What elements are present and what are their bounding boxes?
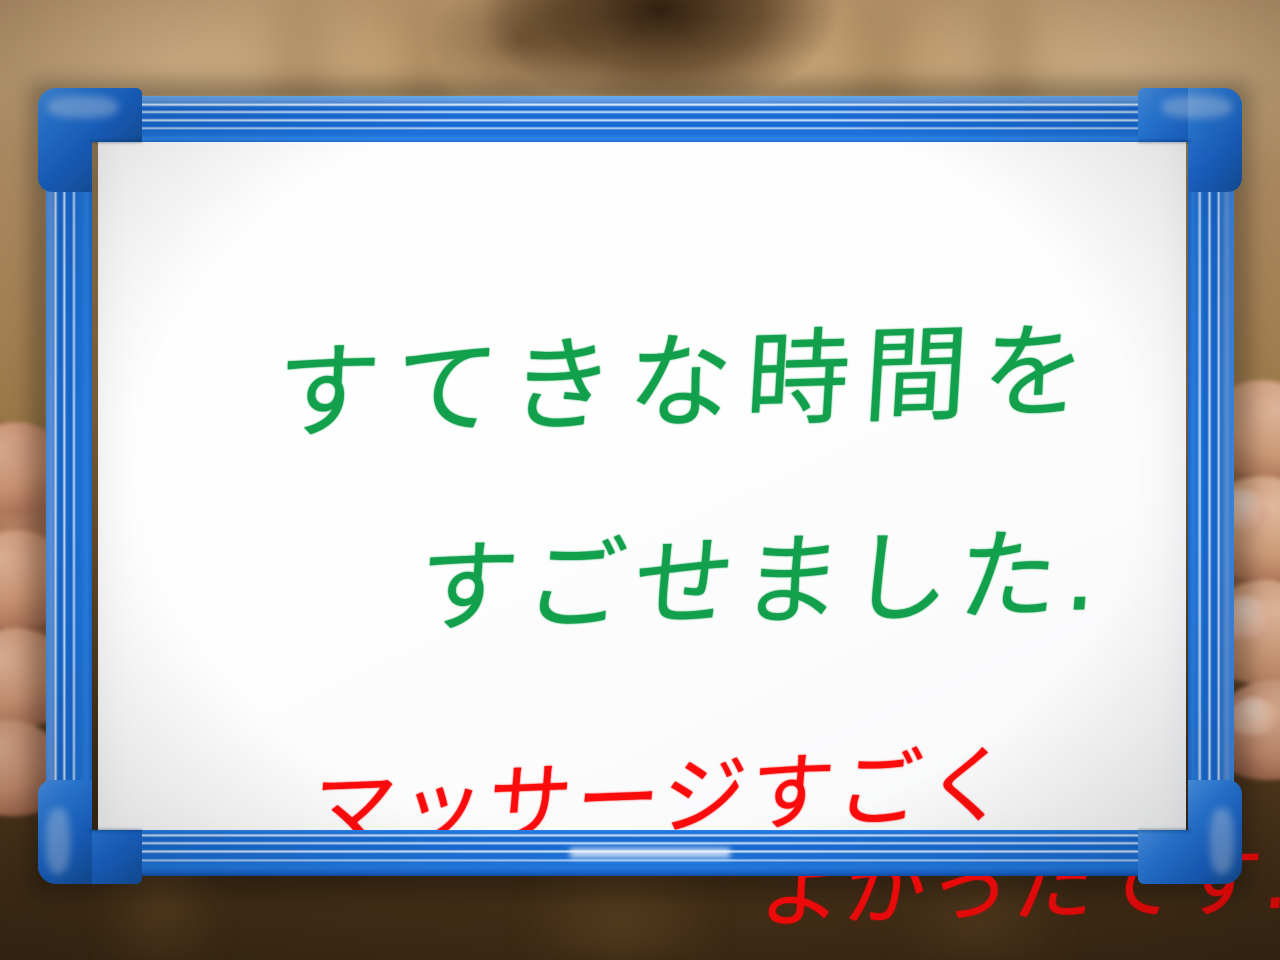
corner-sheen-tl: [48, 96, 118, 118]
frame-rail-left: [46, 140, 92, 840]
photo-scene: すてきな時間を すごせました. マッサージすごく よかったです.: [0, 0, 1280, 960]
corner-edge-br: [1138, 829, 1190, 832]
corner-bracket-top-right: [1138, 88, 1242, 192]
frame-rail-right: [1188, 140, 1234, 840]
corner-bracket-top-left: [38, 88, 142, 192]
frame-rail-bottom: [90, 830, 1190, 876]
corner-bracket-bottom-left: [38, 780, 142, 884]
corner-sheen-br: [1210, 808, 1234, 874]
frame-rail-top: [90, 96, 1190, 142]
rail-specular-highlight: [570, 848, 730, 858]
rail-gloss-right: [1225, 140, 1228, 840]
corner-edge-tr: [1138, 140, 1190, 143]
whiteboard-surface[interactable]: すてきな時間を すごせました. マッサージすごく よかったです.: [98, 120, 1186, 848]
corner-sheen-bl: [46, 808, 70, 874]
handwriting-line-2: すごせました.: [414, 525, 1110, 640]
corner-edge-bl: [90, 829, 142, 832]
corner-edge-tl: [90, 140, 142, 143]
corner-sheen-tr: [1162, 96, 1232, 118]
handwriting-line-1: すてきな時間を: [273, 318, 1103, 445]
rail-gloss-left: [50, 140, 53, 840]
rail-gloss-top: [90, 99, 1190, 102]
whiteboard[interactable]: すてきな時間を すごせました. マッサージすごく よかったです.: [36, 86, 1244, 886]
corner-bracket-bottom-right: [1138, 780, 1242, 884]
